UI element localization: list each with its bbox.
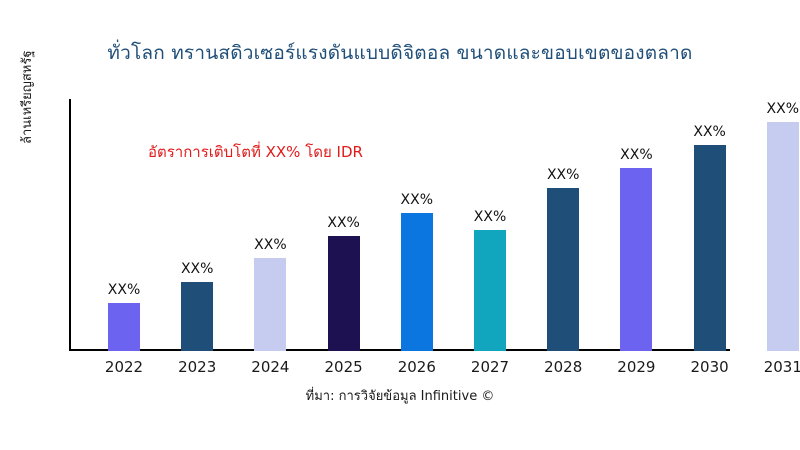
bar-2027[interactable] xyxy=(474,230,506,351)
bar-value-label-2030: XX% xyxy=(693,124,725,140)
bar-chart: ทั่วโลก ทรานสดิวเซอร์แรงดันแบบดิจิตอล ขน… xyxy=(0,0,800,450)
bar-2025[interactable] xyxy=(328,236,360,351)
bar-2030[interactable] xyxy=(694,145,726,351)
bar-2028[interactable] xyxy=(547,188,579,351)
bar-group-2030[interactable]: XX%2030 xyxy=(694,145,726,351)
bar-group-2025[interactable]: XX%2025 xyxy=(328,236,360,351)
bar-value-label-2029: XX% xyxy=(620,147,652,163)
bar-group-2029[interactable]: XX%2029 xyxy=(620,168,652,351)
y-axis-line xyxy=(69,99,71,351)
bar-value-label-2024: XX% xyxy=(254,237,286,253)
bar-2029[interactable] xyxy=(620,168,652,351)
bar-2023[interactable] xyxy=(181,282,213,351)
y-axis-label: ล้านเหรียญสหรัฐ xyxy=(17,0,39,144)
x-tick-label-2022: 2022 xyxy=(105,358,143,376)
bar-group-2026[interactable]: XX%2026 xyxy=(401,213,433,351)
bar-value-label-2027: XX% xyxy=(474,209,506,225)
bar-value-label-2023: XX% xyxy=(181,261,213,277)
x-tick-label-2028: 2028 xyxy=(544,358,582,376)
growth-rate-annotation: อัตราการเติบโตที่ XX% โดย IDR xyxy=(148,140,363,164)
bar-2022[interactable] xyxy=(108,303,140,351)
bar-2031[interactable] xyxy=(767,122,799,351)
bar-value-label-2028: XX% xyxy=(547,167,579,183)
x-tick-label-2026: 2026 xyxy=(398,358,436,376)
x-tick-label-2031: 2031 xyxy=(764,358,800,376)
bar-2024[interactable] xyxy=(254,258,286,351)
chart-title: ทั่วโลก ทรานสดิวเซอร์แรงดันแบบดิจิตอล ขน… xyxy=(0,38,800,68)
bar-value-label-2031: XX% xyxy=(767,101,799,117)
bar-group-2027[interactable]: XX%2027 xyxy=(474,230,506,351)
bar-value-label-2022: XX% xyxy=(108,282,140,298)
bar-group-2028[interactable]: XX%2028 xyxy=(547,188,579,351)
bar-group-2023[interactable]: XX%2023 xyxy=(181,282,213,351)
x-tick-label-2025: 2025 xyxy=(325,358,363,376)
bar-2026[interactable] xyxy=(401,213,433,351)
x-tick-label-2030: 2030 xyxy=(691,358,729,376)
x-tick-label-2023: 2023 xyxy=(178,358,216,376)
bar-group-2031[interactable]: XX%2031 xyxy=(767,122,799,351)
bar-group-2022[interactable]: XX%2022 xyxy=(108,303,140,351)
bar-group-2024[interactable]: XX%2024 xyxy=(254,258,286,351)
x-tick-label-2029: 2029 xyxy=(617,358,655,376)
bar-value-label-2026: XX% xyxy=(401,192,433,208)
x-tick-label-2027: 2027 xyxy=(471,358,509,376)
x-tick-label-2024: 2024 xyxy=(251,358,289,376)
bar-value-label-2025: XX% xyxy=(327,215,359,231)
source-note: ที่มา: การวิจัยข้อมูล Infinitive © xyxy=(0,385,800,406)
